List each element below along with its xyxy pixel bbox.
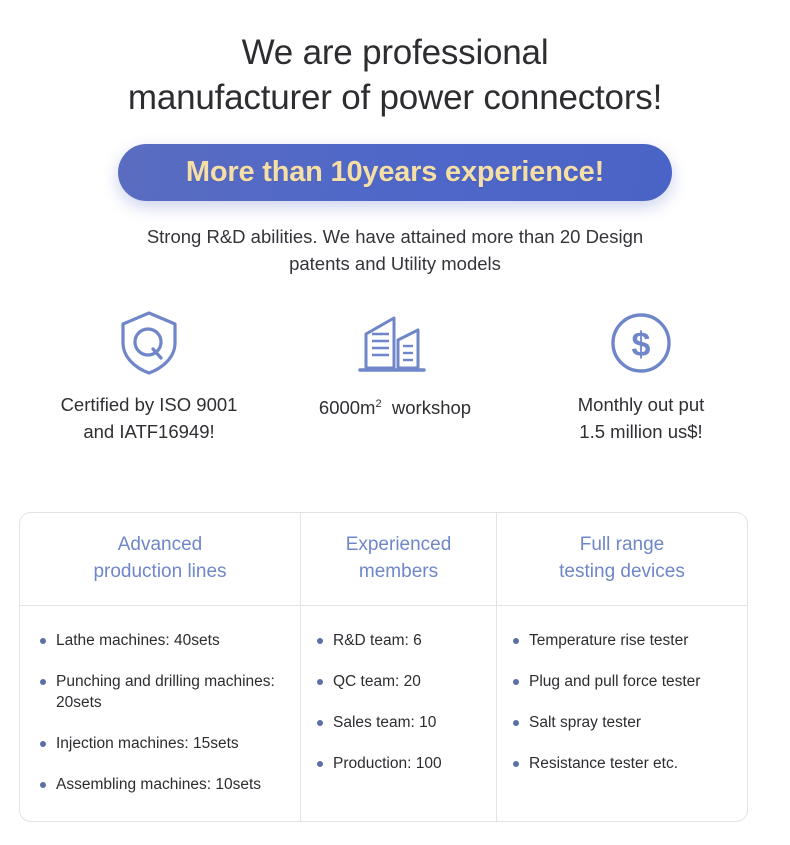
column-header-testing-devices-line-1: Full range	[503, 531, 741, 558]
column-header-production-lines: Advanced production lines	[20, 513, 301, 605]
column-header-members-line-2: members	[307, 558, 490, 585]
list-item: QC team: 20	[315, 671, 486, 692]
capabilities-table: Advanced production lines Experienced me…	[19, 512, 748, 822]
capabilities-table-header: Advanced production lines Experienced me…	[20, 513, 747, 606]
capabilities-table-body: Lathe machines: 40sets Punching and dril…	[20, 606, 747, 821]
page-title-line-1: We are professional	[40, 30, 750, 75]
list-item: R&D team: 6	[315, 630, 486, 651]
list-item: Temperature rise tester	[511, 630, 737, 651]
subtitle-line-2: patents and Utility models	[95, 250, 695, 277]
column-production-lines-items: Lathe machines: 40sets Punching and dril…	[20, 606, 301, 821]
list-item: Assembling machines: 10sets	[38, 774, 290, 795]
list-item: Sales team: 10	[315, 712, 486, 733]
experience-banner: More than 10years experience!	[118, 144, 672, 201]
page-title: We are professional manufacturer of powe…	[0, 0, 790, 120]
dollar-circle-icon: $	[518, 307, 764, 379]
column-testing-devices-items: Temperature rise tester Plug and pull fo…	[497, 606, 747, 821]
column-header-testing-devices-line-2: testing devices	[503, 558, 741, 585]
feature-certification-caption: Certified by ISO 9001 and IATF16949!	[26, 391, 272, 445]
feature-row: Certified by ISO 9001 and IATF16949! 600…	[0, 307, 790, 445]
column-header-members: Experienced members	[301, 513, 497, 605]
page-title-line-2: manufacturer of power connectors!	[40, 75, 750, 120]
list-item: Resistance tester etc.	[511, 753, 737, 774]
feature-certification-caption-line-1: Certified by ISO 9001	[26, 391, 272, 418]
feature-workshop: 6000m2 workshop	[272, 307, 518, 445]
column-header-production-lines-line-2: production lines	[26, 558, 294, 585]
feature-certification: Certified by ISO 9001 and IATF16949!	[26, 307, 272, 445]
svg-text:$: $	[632, 326, 651, 364]
factory-building-icon	[272, 307, 518, 379]
list-item: Lathe machines: 40sets	[38, 630, 290, 651]
list-item: Production: 100	[315, 753, 486, 774]
feature-output-caption-line-1: Monthly out put	[518, 391, 764, 418]
column-header-testing-devices: Full range testing devices	[497, 513, 747, 605]
list-item: Salt spray tester	[511, 712, 737, 733]
feature-output: $ Monthly out put 1.5 million us$!	[518, 307, 764, 445]
feature-output-caption-line-2: 1.5 million us$!	[518, 418, 764, 445]
experience-banner-label: More than 10years experience!	[186, 156, 604, 189]
column-header-production-lines-line-1: Advanced	[26, 531, 294, 558]
feature-certification-caption-line-2: and IATF16949!	[26, 418, 272, 445]
list-item: Plug and pull force tester	[511, 671, 737, 692]
feature-workshop-caption-line-1: 6000m2 workshop	[272, 391, 518, 421]
list-item: Punching and drilling machines: 20sets	[38, 671, 290, 713]
subtitle-line-1: Strong R&D abilities. We have attained m…	[95, 223, 695, 250]
column-header-members-line-1: Experienced	[307, 531, 490, 558]
banner-row: More than 10years experience!	[0, 144, 790, 201]
feature-workshop-caption: 6000m2 workshop	[272, 391, 518, 421]
subtitle: Strong R&D abilities. We have attained m…	[95, 223, 695, 277]
feature-output-caption: Monthly out put 1.5 million us$!	[518, 391, 764, 445]
shield-quality-icon	[26, 307, 272, 379]
list-item: Injection machines: 15sets	[38, 733, 290, 754]
column-members-items: R&D team: 6 QC team: 20 Sales team: 10 P…	[301, 606, 497, 821]
